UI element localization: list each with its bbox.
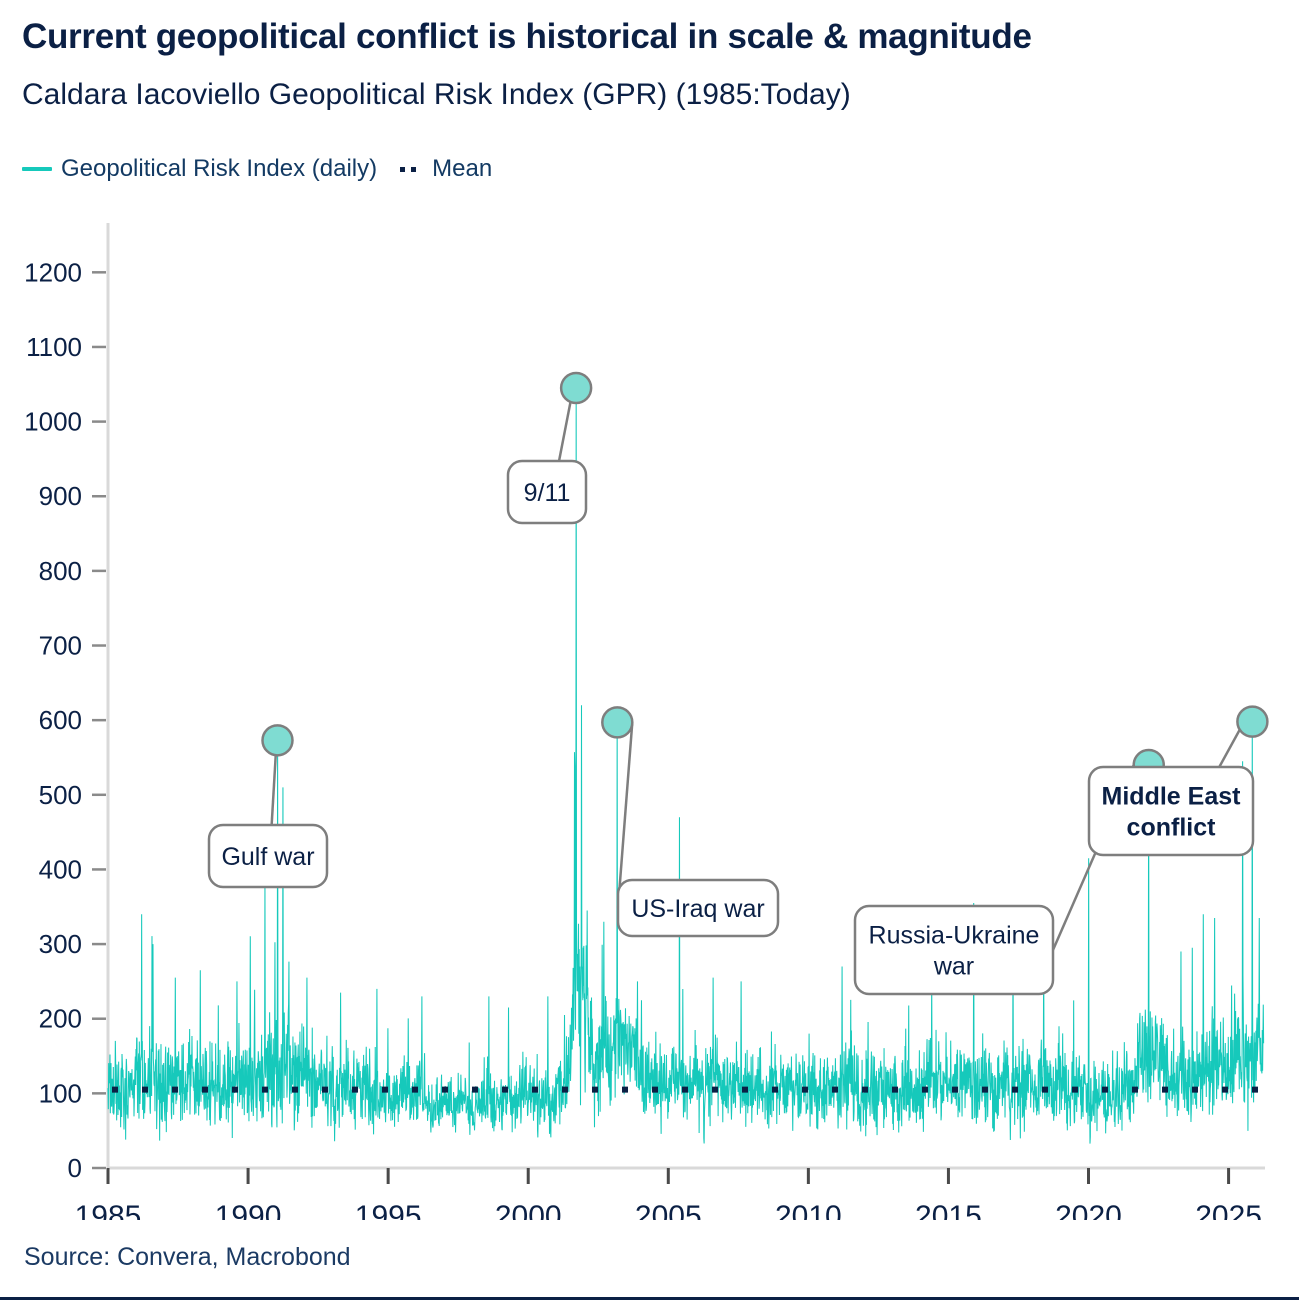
y-tick-label: 100	[39, 1078, 82, 1108]
y-tick-label: 400	[39, 854, 82, 884]
legend-label-mean: Mean	[432, 155, 492, 183]
x-tick-label: 2005	[635, 1200, 702, 1220]
annotation-callout: US-Iraq war	[602, 707, 778, 936]
data-point-marker	[1237, 707, 1267, 737]
y-tick-label: 1100	[26, 332, 82, 362]
data-point-marker	[262, 725, 292, 755]
callout-label: Middle East	[1102, 783, 1242, 811]
annotations: Gulf war9/11US-Iraq warRussia-Ukrainewar…	[209, 373, 1267, 994]
y-tick-label: 600	[39, 705, 82, 735]
data-point-marker	[602, 707, 632, 737]
x-tick-label: 2010	[775, 1200, 842, 1220]
legend-label-series: Geopolitical Risk Index (daily)	[61, 155, 377, 183]
callout-label: 9/11	[524, 479, 571, 507]
y-tick-label: 900	[39, 481, 82, 511]
data-point-marker	[561, 373, 591, 403]
x-tick-label: 1990	[215, 1200, 282, 1220]
legend-item-series[interactable]: Geopolitical Risk Index (daily)	[22, 155, 377, 183]
callout-label: Russia-Ukraine	[869, 922, 1040, 950]
source-note: Source: Convera, Macrobond	[24, 1243, 351, 1272]
x-tick-label: 1985	[75, 1200, 142, 1220]
annotation-callout: Gulf war	[209, 725, 327, 887]
footer-divider	[0, 1297, 1299, 1300]
annotation-callout: 9/11	[508, 373, 591, 523]
annotation-callout: Middle Eastconflict	[1089, 707, 1267, 855]
page-subtitle: Caldara Iacoviello Geopolitical Risk Ind…	[22, 78, 851, 112]
x-tick-label: 2015	[915, 1200, 982, 1220]
y-tick-label: 1200	[24, 257, 82, 287]
x-tick-label: 2020	[1055, 1200, 1122, 1220]
x-tick-label: 1995	[355, 1200, 422, 1220]
y-tick-label: 800	[39, 556, 82, 586]
y-tick-label: 1000	[24, 407, 82, 437]
y-tick-label: 200	[39, 1004, 82, 1034]
callout-box	[1089, 767, 1253, 855]
legend-item-mean[interactable]: Mean	[393, 155, 492, 183]
y-tick-label: 700	[39, 631, 82, 661]
callout-label: Gulf war	[221, 843, 314, 871]
y-tick-label: 0	[68, 1153, 82, 1183]
line-swatch-icon	[22, 167, 52, 171]
x-tick-label: 2025	[1195, 1200, 1262, 1220]
callout-label: war	[933, 953, 974, 981]
x-tick-label: 2000	[495, 1200, 562, 1220]
chart-page: Current geopolitical conflict is histori…	[0, 0, 1299, 1302]
callout-label: US-Iraq war	[631, 895, 764, 923]
y-tick-label: 300	[39, 929, 82, 959]
callout-box	[855, 906, 1053, 994]
dotted-swatch-icon	[393, 166, 423, 172]
callout-label: conflict	[1127, 814, 1217, 842]
series-geopolitical-risk-index	[108, 388, 1264, 1144]
y-tick-label: 500	[39, 780, 82, 810]
chart-legend: Geopolitical Risk Index (daily) Mean	[22, 152, 508, 186]
chart-svg: 0100200300400500600700800900100011001200…	[0, 200, 1299, 1220]
page-title: Current geopolitical conflict is histori…	[22, 17, 1032, 57]
plot-area: 0100200300400500600700800900100011001200…	[0, 200, 1299, 1220]
